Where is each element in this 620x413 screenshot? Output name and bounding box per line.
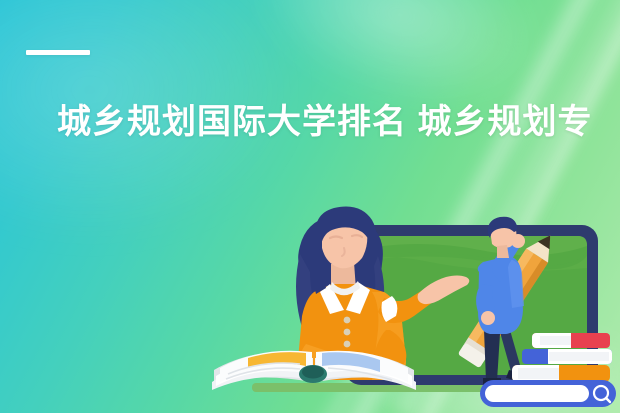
banner: 城乡规划国际大学排名 城乡规划专 xyxy=(0,0,620,413)
illustration xyxy=(0,0,620,413)
book-red xyxy=(532,333,610,348)
search-input xyxy=(485,385,589,402)
book-blue xyxy=(522,349,612,364)
book-orange xyxy=(512,365,610,382)
search-bar xyxy=(480,380,616,407)
man-hand-lower xyxy=(481,311,495,325)
